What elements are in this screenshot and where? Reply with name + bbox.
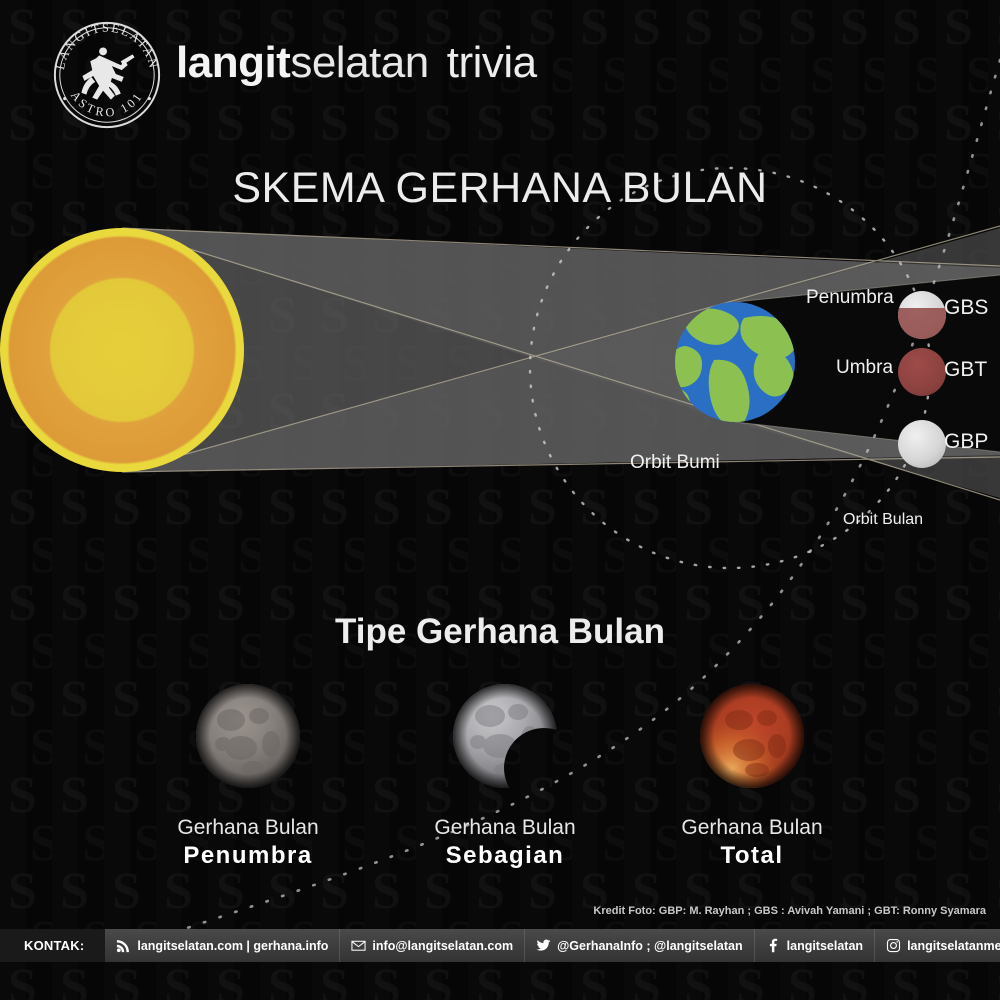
total-caption: Gerhana Bulan Total (642, 816, 862, 870)
wordmark: langitselatantrivia (176, 38, 537, 88)
photo-credit: Kredit Foto: GBP: M. Rayhan ; GBS : Aviv… (593, 905, 986, 917)
diagram-moon-gbs (898, 291, 946, 339)
partial-moon-photo (440, 672, 570, 802)
page-title: SKEMA GERHANA BULAN (0, 164, 1000, 213)
twitter-icon (536, 938, 551, 953)
infographic-root: S S (0, 0, 1000, 1000)
footer-email-text: info@langitselatan.com (372, 939, 513, 953)
total-line2: Total (642, 842, 862, 870)
partial-line2: Sebagian (395, 842, 615, 870)
rss-icon (116, 938, 131, 953)
wordmark-trivia: trivia (447, 38, 537, 87)
instagram-icon (886, 938, 901, 953)
diagram-moon-gbt (898, 348, 946, 396)
partial-caption: Gerhana Bulan Sebagian (395, 816, 615, 870)
eclipse-type-penumbral: Gerhana Bulan Penumbra (138, 672, 358, 870)
footer-item-twitter[interactable]: @GerhanaInfo ; @langitselatan (525, 929, 754, 962)
facebook-icon (766, 938, 781, 953)
label-gbt: GBT (944, 358, 987, 382)
footer-twitter-text: @GerhanaInfo ; @langitselatan (557, 939, 743, 953)
total-moon-photo (687, 672, 817, 802)
partial-line1: Gerhana Bulan (434, 816, 575, 839)
footer-kontak-label-cell: KONTAK: (0, 929, 105, 962)
total-line1: Gerhana Bulan (681, 816, 822, 839)
footer-website-text: langitselatan.com | gerhana.info (137, 939, 328, 953)
footer-facebook-text: langitselatan (787, 939, 863, 953)
label-orbit-bumi: Orbit Bumi (630, 452, 720, 474)
eclipse-type-list: Gerhana Bulan Penumbra (0, 672, 1000, 872)
label-orbit-bulan: Orbit Bulan (843, 511, 923, 529)
header: LANGITSELATAN ASTRO 101 langitselatantri… (0, 0, 1000, 140)
logo-rider-figure (81, 47, 134, 99)
sun (0, 228, 244, 472)
footer-item-website[interactable]: langitselatan.com | gerhana.info (105, 929, 339, 962)
footer-item-email[interactable]: info@langitselatan.com (340, 929, 524, 962)
label-gbs: GBS (944, 296, 988, 320)
penumbral-moon-photo (183, 672, 313, 802)
footer-instagram-text: langitselatanmedia (907, 939, 1000, 953)
label-penumbra: Penumbra (806, 287, 894, 309)
envelope-icon (351, 938, 366, 953)
diagram-moon-gbp (898, 420, 946, 468)
label-umbra: Umbra (836, 357, 893, 379)
section-title-types: Tipe Gerhana Bulan (0, 612, 1000, 652)
footer-item-facebook[interactable]: langitselatan (755, 929, 874, 962)
footer-contact-bar: KONTAK: langitselatan.com | gerhana.info… (0, 929, 1000, 962)
wordmark-langit: langit (176, 38, 290, 87)
footer-item-instagram[interactable]: langitselatanmedia (875, 929, 1000, 962)
label-gbp: GBP (944, 430, 988, 454)
eclipse-type-partial: Gerhana Bulan Sebagian (395, 672, 615, 870)
eclipse-type-total: Gerhana Bulan Total (642, 672, 862, 870)
langitselatan-astro-logo-icon: LANGITSELATAN ASTRO 101 (48, 16, 166, 134)
penumbral-line2: Penumbra (138, 842, 358, 870)
penumbral-caption: Gerhana Bulan Penumbra (138, 816, 358, 870)
wordmark-selatan: selatan (290, 38, 428, 87)
footer-kontak-label: KONTAK: (11, 938, 94, 953)
penumbral-line1: Gerhana Bulan (177, 816, 318, 839)
